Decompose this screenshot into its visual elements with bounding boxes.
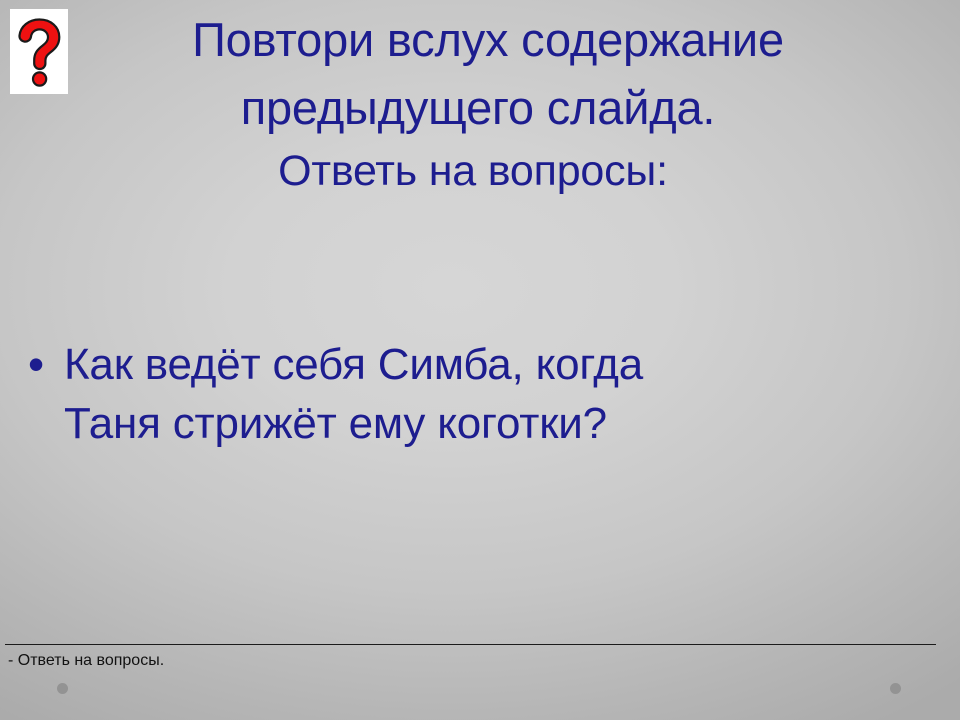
list-item: • Как ведёт себя Симба, когда Таня стриж… [8, 336, 908, 453]
title-line-1: Повтори вслух содержание [76, 6, 900, 74]
title-line-3: Ответь на вопросы: [46, 141, 900, 203]
page-title: Повтори вслух содержание предыдущего сла… [70, 6, 900, 203]
decorative-dot-left [57, 683, 68, 694]
bullet-text: Как ведёт себя Симба, когда Таня стрижёт… [64, 336, 908, 453]
decorative-dot-right [890, 683, 901, 694]
footer-note: - Ответь на вопросы. [8, 650, 164, 672]
slide-canvas: Повтори вслух содержание предыдущего сла… [0, 0, 960, 720]
footer-divider [5, 644, 936, 645]
bullet-text-line-1: Как ведёт себя Симба, когда [64, 336, 908, 395]
bullet-list: • Как ведёт себя Симба, когда Таня стриж… [8, 336, 908, 453]
bullet-marker-icon: • [8, 336, 64, 392]
title-line-2: предыдущего слайда. [56, 74, 900, 142]
bullet-text-line-2: Таня стрижёт ему коготки? [64, 395, 908, 454]
